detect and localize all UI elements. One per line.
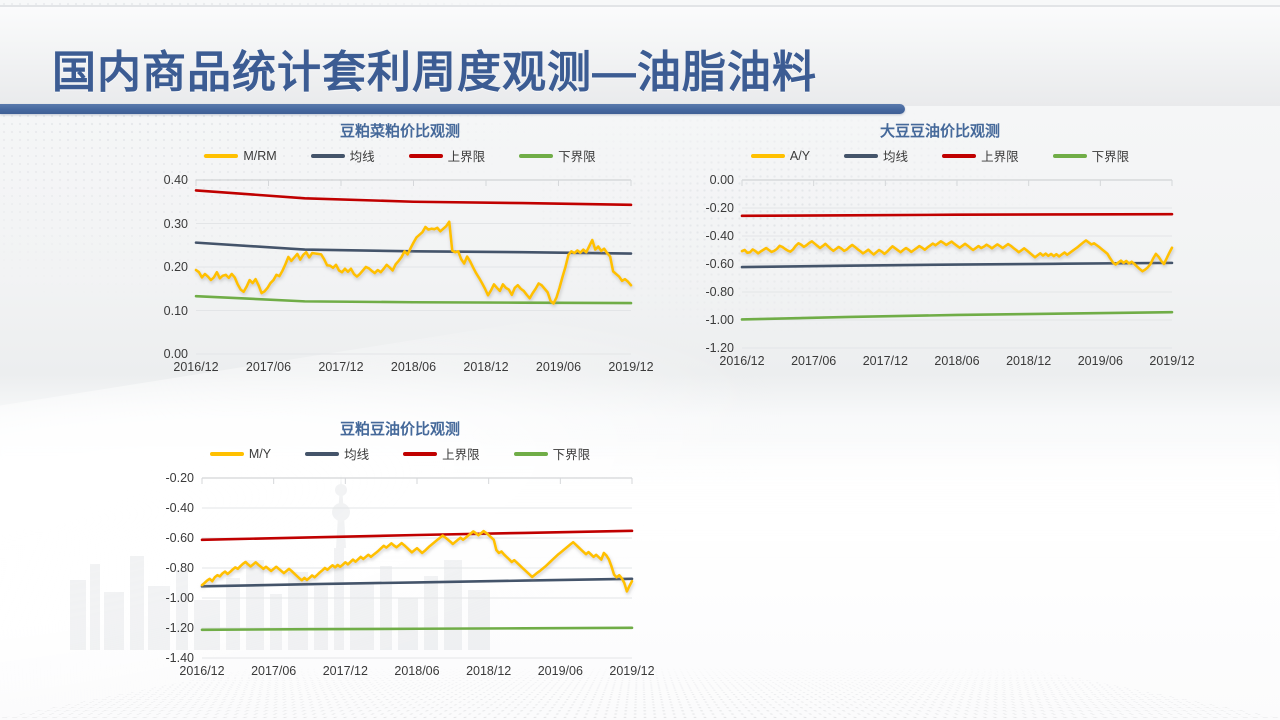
y-axis-tick-label: -0.60 <box>674 257 734 271</box>
legend-label: 均线 <box>883 146 908 165</box>
legend-swatch-icon <box>210 452 244 456</box>
y-axis-tick-label: -0.20 <box>134 471 194 485</box>
x-axis-tick-label: 2019/12 <box>608 360 653 374</box>
legend-item-3[interactable]: 上界限 <box>409 146 486 165</box>
header-top-rule <box>0 5 1280 7</box>
chart-legend: M/RM均线上界限下界限 <box>150 146 650 165</box>
legend-item-2[interactable]: 均线 <box>311 146 375 165</box>
page-title: 国内商品统计套利周度观测—油脂油料 <box>52 36 817 100</box>
x-axis-tick-label: 2018/12 <box>466 664 511 678</box>
legend-swatch-icon <box>305 452 339 456</box>
y-axis-tick-label: -1.20 <box>134 621 194 635</box>
slide-root: 国内商品统计套利周度观测—油脂油料 豆粕菜粕价比观测 M/RM均线上界限下界限 … <box>0 0 1280 720</box>
y-axis-tick-label: 0.30 <box>128 217 188 231</box>
chart-title: 豆粕豆油价比观测 <box>150 418 650 439</box>
y-axis-tick-label: -0.40 <box>674 229 734 243</box>
series-line-2 <box>202 579 632 587</box>
y-axis-tick-label: 0.40 <box>128 173 188 187</box>
legend-label: M/RM <box>243 149 276 163</box>
x-axis-tick-label: 2017/06 <box>791 354 836 368</box>
legend-label: 上界限 <box>981 146 1019 165</box>
y-axis-tick-label: 0.00 <box>674 173 734 187</box>
x-axis-tick-label: 2016/12 <box>179 664 224 678</box>
y-axis-tick-label: 0.20 <box>128 260 188 274</box>
legend-item-1[interactable]: A/Y <box>751 149 810 163</box>
y-axis-tick-label: -0.40 <box>134 501 194 515</box>
x-axis-tick-label: 2018/06 <box>391 360 436 374</box>
legend-swatch-icon <box>519 154 553 158</box>
legend-item-2[interactable]: 均线 <box>305 444 369 463</box>
legend-label: 下界限 <box>553 444 591 463</box>
x-axis-tick-label: 2018/06 <box>394 664 439 678</box>
x-axis-tick-label: 2019/12 <box>609 664 654 678</box>
chart-soymeal-rapemeal: 豆粕菜粕价比观测 M/RM均线上界限下界限 0.400.300.200.100.… <box>150 120 650 392</box>
legend-label: 上界限 <box>448 146 486 165</box>
legend-swatch-icon <box>403 452 437 456</box>
chart-legend: A/Y均线上界限下界限 <box>690 146 1190 165</box>
chart-soymeal-soyoil: 豆粕豆油价比观测 M/Y均线上界限下界限 -0.20-0.40-0.60-0.8… <box>150 418 650 694</box>
y-axis-tick-label: -0.80 <box>134 561 194 575</box>
x-axis-tick-label: 2019/06 <box>536 360 581 374</box>
plot-canvas <box>690 172 1186 374</box>
y-axis-tick-label: -1.40 <box>134 651 194 665</box>
x-axis-tick-label: 2017/06 <box>251 664 296 678</box>
legend-swatch-icon <box>514 452 548 456</box>
y-axis-tick-label: 0.10 <box>128 304 188 318</box>
chart-plot-area: 0.00-0.20-0.40-0.60-0.80-1.00-1.202016/1… <box>690 172 1186 374</box>
legend-item-4[interactable]: 下界限 <box>514 444 591 463</box>
y-axis-tick-label: -1.00 <box>674 313 734 327</box>
legend-item-3[interactable]: 上界限 <box>942 146 1019 165</box>
y-axis-tick-label: -1.00 <box>134 591 194 605</box>
x-axis-tick-label: 2017/12 <box>863 354 908 368</box>
chart-soybean-soyoil: 大豆豆油价比观测 A/Y均线上界限下界限 0.00-0.20-0.40-0.60… <box>690 120 1190 392</box>
x-axis-tick-label: 2017/12 <box>323 664 368 678</box>
x-axis-tick-label: 2017/06 <box>246 360 291 374</box>
legend-label: M/Y <box>249 447 271 461</box>
legend-item-2[interactable]: 均线 <box>844 146 908 165</box>
legend-item-3[interactable]: 上界限 <box>403 444 480 463</box>
chart-title: 大豆豆油价比观测 <box>690 120 1190 141</box>
plot-canvas <box>150 470 646 684</box>
x-axis-tick-label: 2016/12 <box>173 360 218 374</box>
plot-canvas <box>150 172 645 380</box>
title-accent-bar <box>0 104 905 114</box>
series-line-4 <box>742 312 1172 319</box>
legend-swatch-icon <box>942 154 976 158</box>
x-axis-tick-label: 2019/06 <box>1078 354 1123 368</box>
chart-title: 豆粕菜粕价比观测 <box>150 120 650 141</box>
legend-item-1[interactable]: M/Y <box>210 447 271 461</box>
legend-label: 下界限 <box>558 146 596 165</box>
series-line-3 <box>196 190 631 204</box>
y-axis-tick-label: -0.60 <box>134 531 194 545</box>
x-axis-tick-label: 2019/12 <box>1149 354 1194 368</box>
x-axis-tick-label: 2018/12 <box>463 360 508 374</box>
y-axis-tick-label: -0.80 <box>674 285 734 299</box>
legend-item-4[interactable]: 下界限 <box>519 146 596 165</box>
legend-label: A/Y <box>790 149 810 163</box>
x-axis-tick-label: 2018/06 <box>934 354 979 368</box>
y-axis-tick-label: 0.00 <box>128 347 188 361</box>
chart-plot-area: -0.20-0.40-0.60-0.80-1.00-1.20-1.402016/… <box>150 470 646 684</box>
legend-item-4[interactable]: 下界限 <box>1053 146 1130 165</box>
x-axis-tick-label: 2016/12 <box>719 354 764 368</box>
legend-label: 上界限 <box>442 444 480 463</box>
legend-label: 下界限 <box>1092 146 1130 165</box>
series-line-4 <box>202 628 632 630</box>
y-axis-tick-label: -0.20 <box>674 201 734 215</box>
chart-plot-area: 0.400.300.200.100.002016/122017/062017/1… <box>150 172 645 380</box>
chart-legend: M/Y均线上界限下界限 <box>150 444 650 463</box>
legend-swatch-icon <box>204 154 238 158</box>
x-axis-tick-label: 2019/06 <box>538 664 583 678</box>
x-axis-tick-label: 2017/12 <box>318 360 363 374</box>
series-line-4 <box>196 296 631 303</box>
legend-swatch-icon <box>844 154 878 158</box>
series-line-1 <box>196 222 631 304</box>
legend-swatch-icon <box>311 154 345 158</box>
series-line-3 <box>742 214 1172 216</box>
legend-item-1[interactable]: M/RM <box>204 149 276 163</box>
legend-label: 均线 <box>350 146 375 165</box>
legend-swatch-icon <box>1053 154 1087 158</box>
x-axis-tick-label: 2018/12 <box>1006 354 1051 368</box>
y-axis-tick-label: -1.20 <box>674 341 734 355</box>
legend-swatch-icon <box>409 154 443 158</box>
legend-label: 均线 <box>344 444 369 463</box>
legend-swatch-icon <box>751 154 785 158</box>
